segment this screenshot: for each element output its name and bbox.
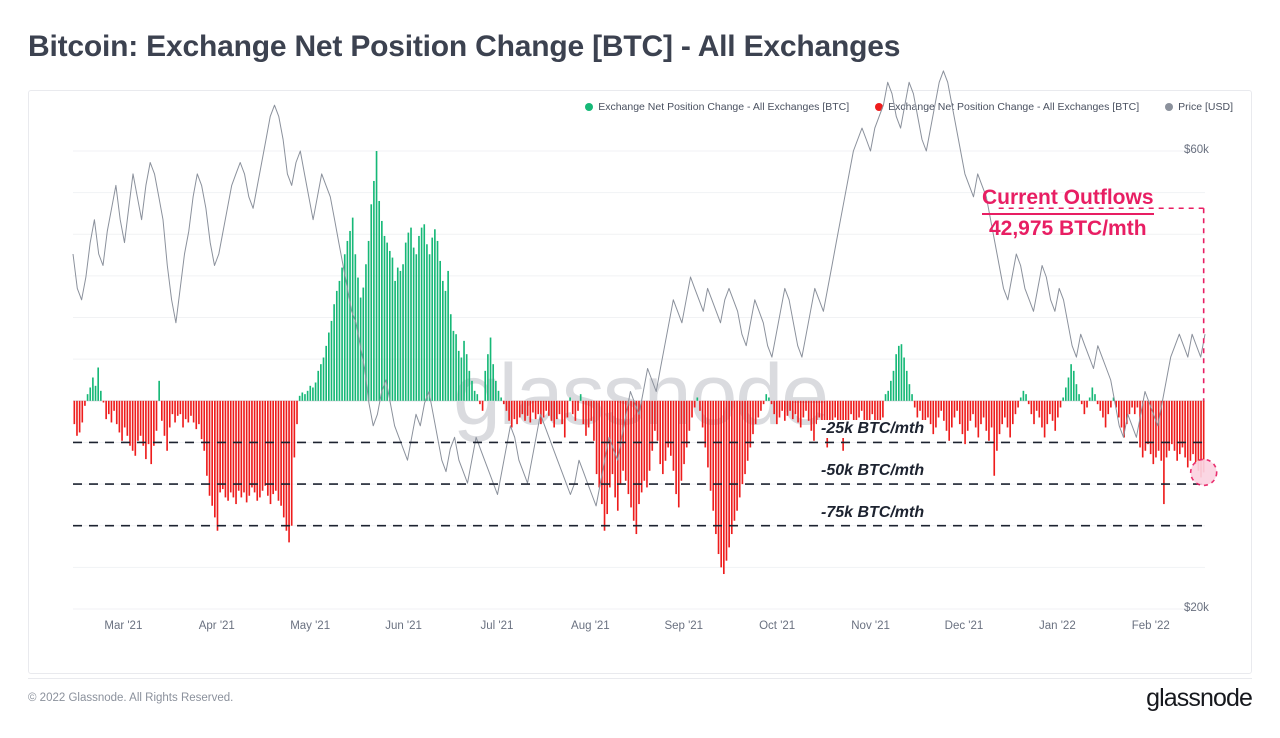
x-axis: Mar '21Apr '21May '21Jun '21Jul '21Aug '… bbox=[0, 620, 1280, 640]
x-tick-label: Nov '21 bbox=[851, 620, 890, 632]
glassnode-logo: glassnode bbox=[1146, 684, 1252, 713]
x-tick-label: May '21 bbox=[290, 620, 330, 632]
price-tick-label: $60k bbox=[1184, 144, 1209, 156]
x-tick-label: Oct '21 bbox=[759, 620, 795, 632]
x-tick-label: Mar '21 bbox=[104, 620, 142, 632]
threshold-label: -50k BTC/mth bbox=[817, 462, 928, 480]
legend-dot-green bbox=[585, 103, 593, 111]
annotation-line-2: 42,975 BTC/mth bbox=[982, 215, 1154, 242]
x-tick-label: Jan '22 bbox=[1039, 620, 1076, 632]
page-title: Bitcoin: Exchange Net Position Change [B… bbox=[28, 30, 900, 64]
chart-page: Bitcoin: Exchange Net Position Change [B… bbox=[0, 0, 1280, 738]
legend-label: Exchange Net Position Change - All Excha… bbox=[888, 101, 1139, 113]
annotation-line-1: Current Outflows bbox=[982, 186, 1154, 215]
chart-card: Exchange Net Position Change - All Excha… bbox=[28, 90, 1252, 674]
footer-divider bbox=[28, 678, 1252, 679]
copyright-text: © 2022 Glassnode. All Rights Reserved. bbox=[28, 692, 233, 704]
x-tick-label: Feb '22 bbox=[1132, 620, 1170, 632]
price-tick-label: $20k bbox=[1184, 602, 1209, 614]
threshold-label: -25k BTC/mth bbox=[817, 420, 928, 438]
x-tick-label: Aug '21 bbox=[571, 620, 610, 632]
chart-legend: Exchange Net Position Change - All Excha… bbox=[29, 101, 1251, 113]
legend-dot-gray bbox=[1165, 103, 1173, 111]
x-tick-label: Sep '21 bbox=[664, 620, 703, 632]
legend-label: Exchange Net Position Change - All Excha… bbox=[598, 101, 849, 113]
x-tick-label: Apr '21 bbox=[199, 620, 235, 632]
legend-item-net-position-inflow[interactable]: Exchange Net Position Change - All Excha… bbox=[585, 101, 849, 113]
x-tick-label: Jul '21 bbox=[481, 620, 514, 632]
x-tick-label: Jun '21 bbox=[385, 620, 422, 632]
current-outflows-annotation: Current Outflows 42,975 BTC/mth bbox=[982, 186, 1154, 242]
threshold-label: -75k BTC/mth bbox=[817, 504, 928, 522]
x-tick-label: Dec '21 bbox=[945, 620, 984, 632]
